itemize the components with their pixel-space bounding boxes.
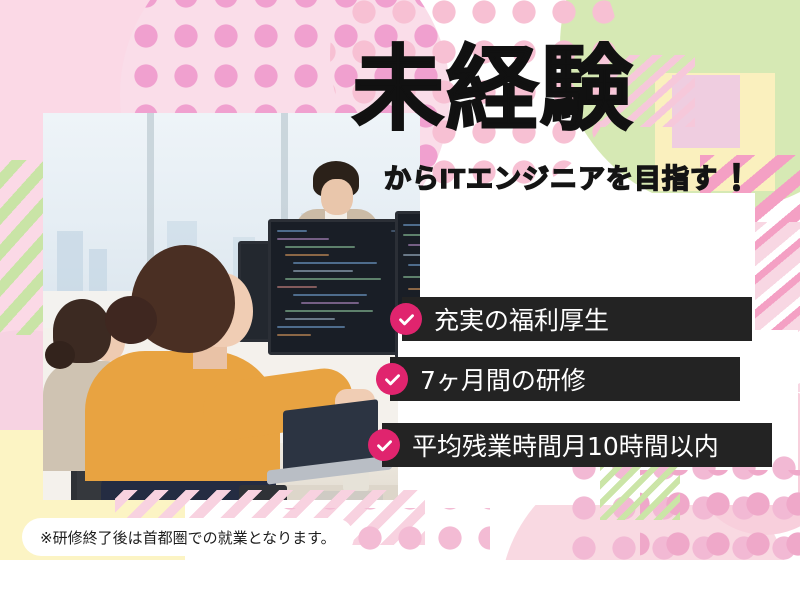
subtitle-text: からITエンジニアを目指す xyxy=(384,164,718,194)
photo-man-face xyxy=(321,179,353,215)
check-circle-icon xyxy=(390,303,422,335)
page-title: 未経験 xyxy=(352,44,702,136)
photo-woman-bun xyxy=(105,296,157,344)
photo-phone xyxy=(239,485,287,500)
feature-bar-2: 7ヶ月間の研修 xyxy=(390,357,740,401)
office-photo xyxy=(43,113,420,500)
exclamation-mark: ！ xyxy=(728,162,763,196)
poster-canvas: 未経験 からITエンジニアを目指す！ 充実の福利厚生 7ヶ月間の研修 平均残業時… xyxy=(0,0,800,600)
feature-label-1: 充実の福利厚生 xyxy=(434,301,609,337)
feature-bar-3: 平均残業時間月10時間以内 xyxy=(382,423,772,467)
feature-label-3: 平均残業時間月10時間以内 xyxy=(412,427,719,463)
footnote-pill: ※研修終了後は首都圏での就業となります。 xyxy=(22,518,354,556)
check-circle-icon xyxy=(368,429,400,461)
white-footer-band xyxy=(0,560,800,600)
subtitle: からITエンジニアを目指す！ xyxy=(384,160,763,194)
footnote-text: ※研修終了後は首都圏での就業となります。 xyxy=(40,527,336,548)
feature-label-2: 7ヶ月間の研修 xyxy=(420,361,586,397)
feature-bar-1: 充実の福利厚生 xyxy=(402,297,752,341)
photo-woman2-bun xyxy=(45,341,75,369)
check-circle-icon xyxy=(376,363,408,395)
photo-notebook xyxy=(313,491,383,500)
